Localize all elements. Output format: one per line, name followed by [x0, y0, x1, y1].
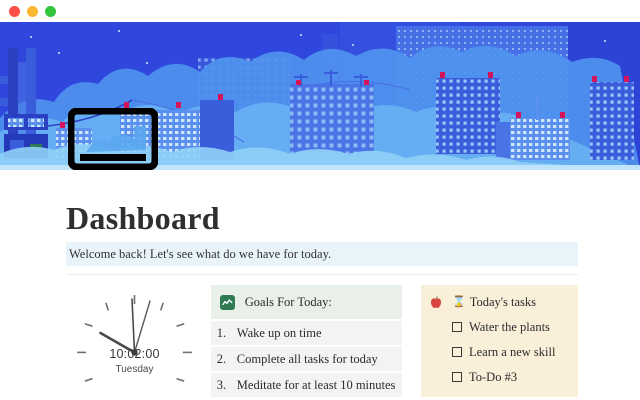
monitor-icon [68, 108, 158, 170]
titlebar [0, 0, 640, 22]
close-button[interactable] [9, 6, 20, 17]
goal-list-item[interactable]: 1. Wake up on time [211, 319, 402, 345]
goal-number: 1. [217, 326, 237, 341]
tasks-title: Today's tasks [470, 295, 536, 310]
task-label: Water the plants [469, 320, 550, 335]
task-checkbox[interactable] [452, 372, 462, 382]
goal-number: 2. [217, 352, 237, 367]
maximize-button[interactable] [45, 6, 56, 17]
goal-list-item[interactable]: 3. Meditate for at least 10 minutes [211, 371, 402, 397]
task-list-item[interactable]: Water the plants [430, 319, 578, 335]
apple-glyph [430, 296, 442, 309]
goal-list-item[interactable]: 2. Complete all tasks for today [211, 345, 402, 371]
traffic-lights [9, 6, 56, 17]
tasks-header: ⌛ Today's tasks [430, 294, 578, 310]
hourglass-icon: ⌛ [452, 297, 466, 308]
analog-clock: 10:02:00 Tuesday [66, 285, 203, 397]
tasks-card: ⌛ Today's tasks Water the plants Learn a… [421, 285, 578, 397]
goal-label: Meditate for at least 10 minutes [237, 378, 396, 393]
minimize-button[interactable] [27, 6, 38, 17]
clock-day: Tuesday [66, 364, 203, 375]
task-label: To-Do #3 [469, 370, 517, 385]
goal-number: 3. [217, 378, 237, 393]
task-list-item[interactable]: Learn a new skill [430, 344, 578, 360]
clock-time: 10:02:00 [66, 347, 203, 361]
task-checkbox[interactable] [452, 322, 462, 332]
clock-face-icon [66, 285, 203, 397]
main-content: Dashboard Welcome back! Let's see what d… [0, 170, 640, 400]
welcome-text: Welcome back! Let's see what do we have … [69, 247, 331, 262]
cityscape-banner [0, 22, 640, 170]
goals-card: Goals For Today: 1. Wake up on time 2. C… [211, 285, 402, 400]
chart-line-glyph [222, 298, 233, 307]
welcome-callout: Welcome back! Let's see what do we have … [66, 242, 578, 266]
goals-title: Goals For Today: [245, 295, 332, 310]
spacer [203, 285, 211, 400]
goal-label: Wake up on time [237, 326, 322, 341]
widget-row: 10:02:00 Tuesday Goals For Today: 1. [66, 285, 578, 400]
clock-widget: 10:02:00 Tuesday [66, 285, 203, 400]
task-list-item[interactable]: To-Do #3 [430, 369, 578, 385]
tasks-card-wrapper: ⌛ Today's tasks Water the plants Learn a… [421, 285, 578, 400]
chart-line-icon [220, 295, 235, 310]
goal-label: Complete all tasks for today [237, 352, 378, 367]
monitor-icon-glyph [68, 108, 158, 170]
task-checkbox[interactable] [452, 347, 462, 357]
goals-header: Goals For Today: [211, 285, 402, 319]
section-divider [66, 274, 578, 275]
app-window: Dashboard Welcome back! Let's see what d… [0, 0, 640, 400]
spacer [402, 285, 421, 400]
task-label: Learn a new skill [469, 345, 555, 360]
apple-icon [430, 296, 442, 309]
page-title: Dashboard [66, 202, 220, 234]
